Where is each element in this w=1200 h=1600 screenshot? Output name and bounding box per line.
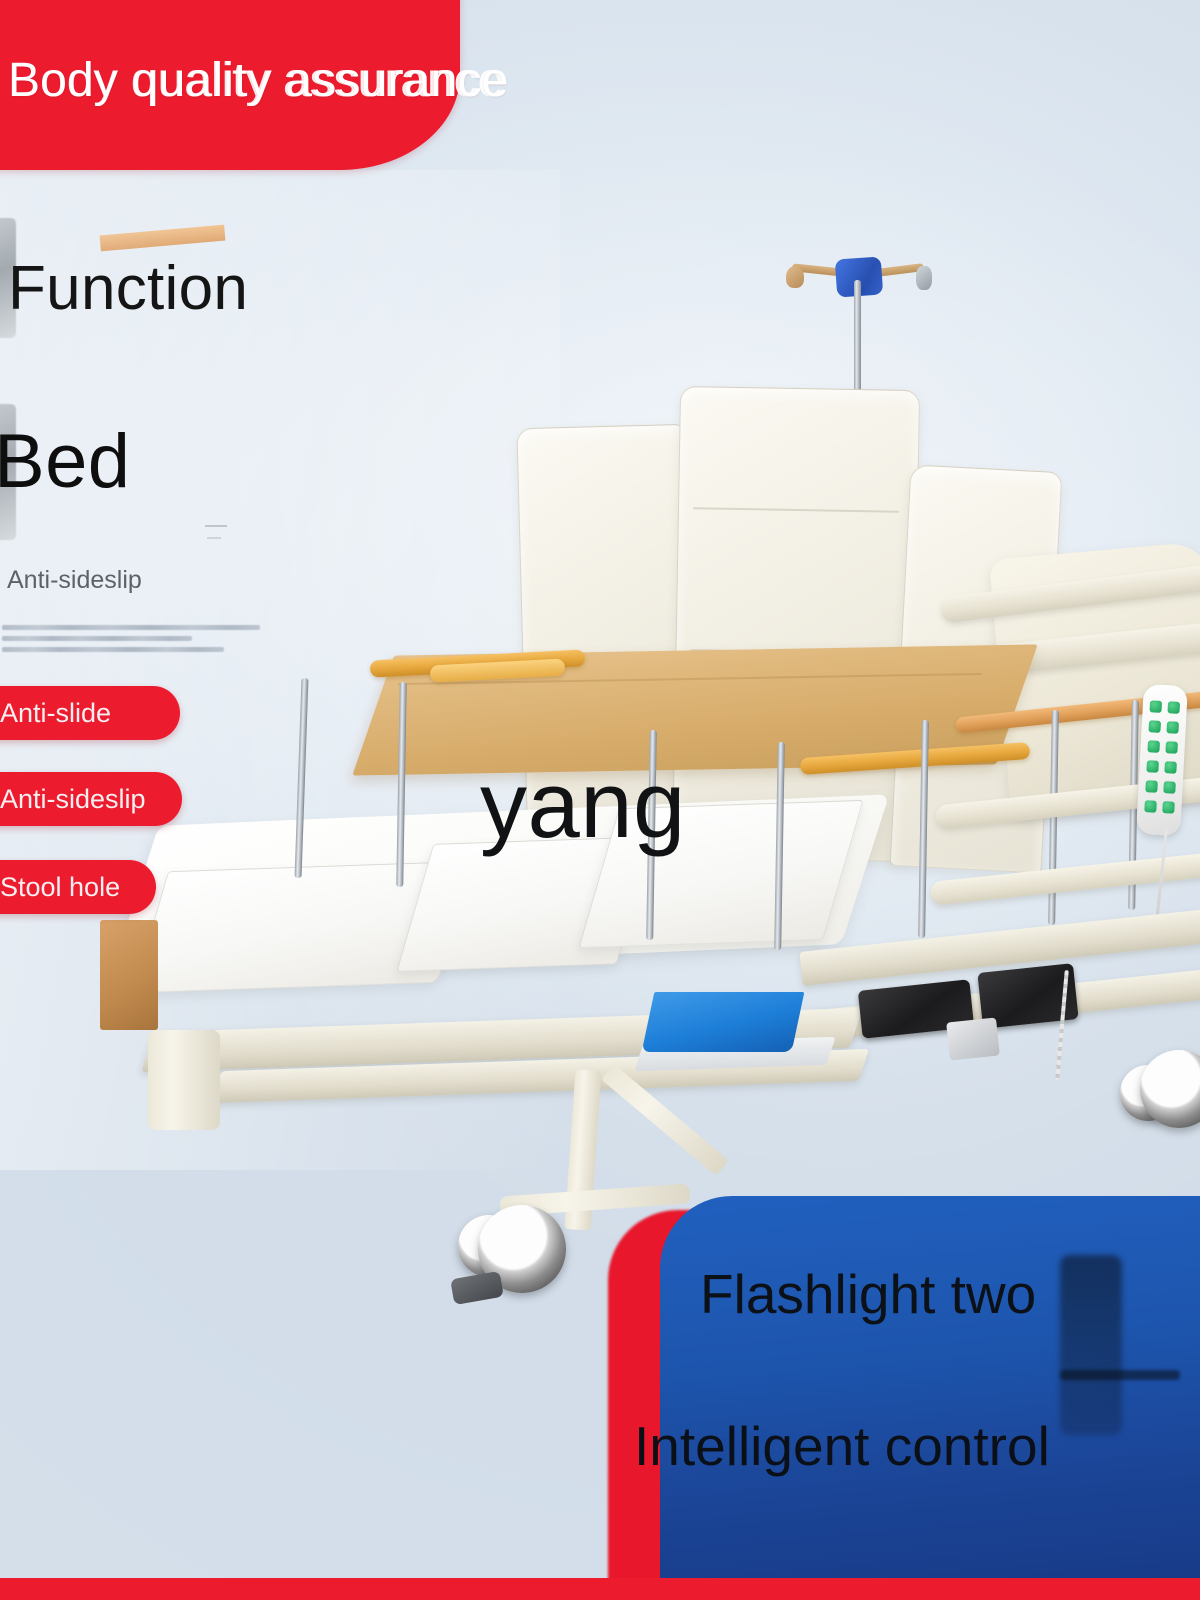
caster-brake-pedal [450,1271,504,1305]
remote-control [1136,684,1188,836]
footer-red-strip [0,1578,1200,1600]
iv-pole-hook-right-icon [916,266,932,290]
divider-rule [205,525,227,527]
image-watermark: yang [480,755,686,855]
heading-function: Function [8,253,248,325]
fine-print-line [2,625,260,630]
badge-label: Anti-sideslip [0,784,146,814]
badge-anti-slide[interactable]: Anti-slide [0,686,180,740]
bottom-panel-line-1: Flashlight two [700,1258,1200,1330]
bed-leg-left [148,1030,220,1130]
page-title: Body quality assurance [8,48,828,114]
bottom-panel-line-2: Intelligent control [634,1410,1200,1482]
badge-stool-hole[interactable]: Stool hole [0,860,156,914]
blue-bedpan [642,992,805,1052]
product-banner-canvas: yang Body quality assurance Body quality… [0,0,1200,1600]
bottom-panel-photo-dash [1060,1370,1180,1380]
heading-bed: Bed [0,418,130,506]
badge-anti-sideslip[interactable]: Anti-sideslip [0,772,182,826]
fine-print-block [2,625,260,658]
motor-bracket [946,1017,1000,1060]
fine-print-line [2,647,224,652]
footboard-wood-insert [100,920,158,1030]
badge-label: Anti-slide [0,698,111,728]
divider-rule [207,537,221,539]
iv-pole-hook-left-icon [786,266,804,288]
fine-print-line [2,636,192,641]
badge-label: Stool hole [0,872,120,902]
subheading-anti-sideslip: Anti-sideslip [7,564,142,596]
